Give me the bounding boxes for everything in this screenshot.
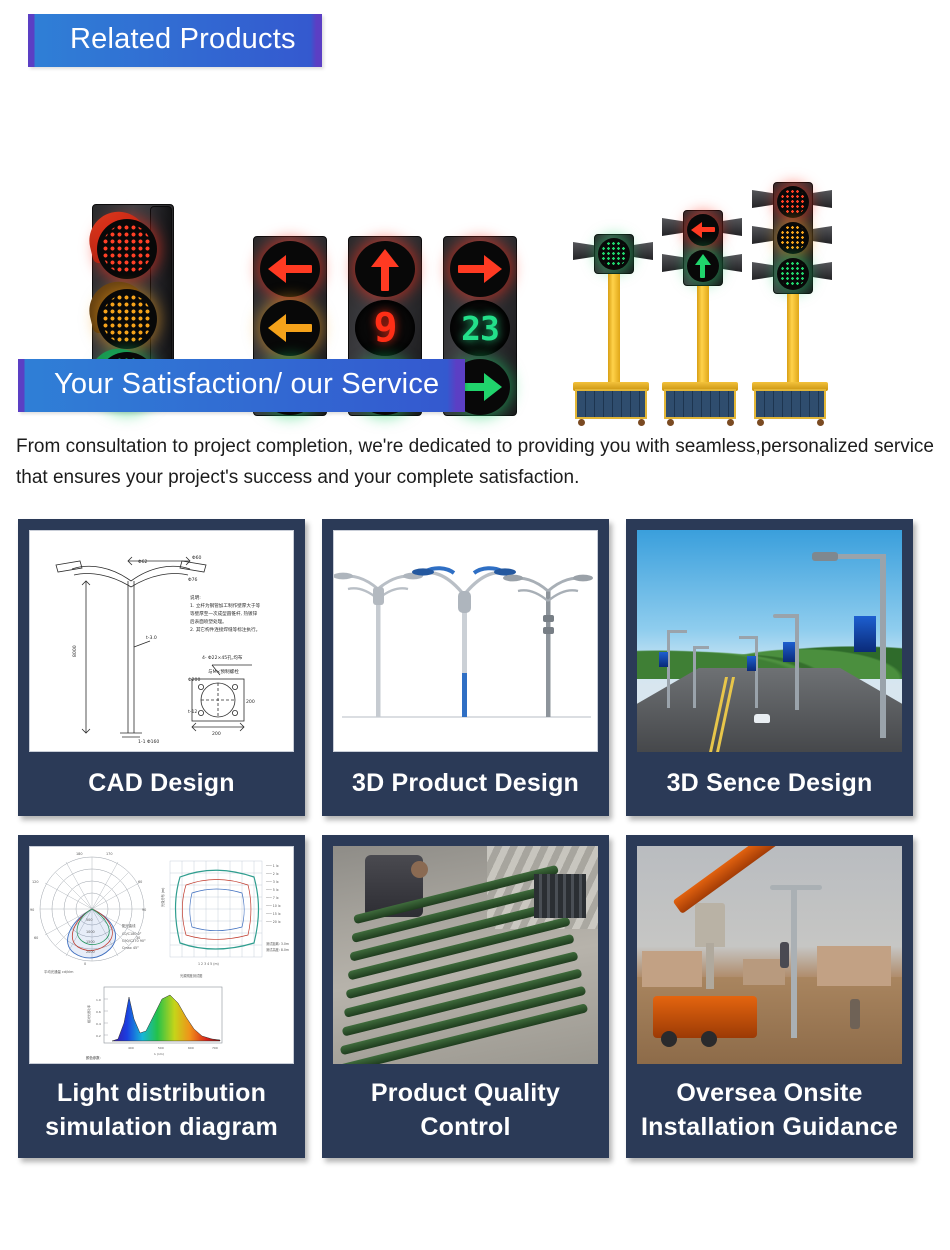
svg-text:等壁厚至一次成型圆锥杆, 热镀锌: 等壁厚至一次成型圆锥杆, 热镀锌 xyxy=(190,610,258,617)
svg-text:2. 其它构件连接焊缝等标注执行。: 2. 其它构件连接焊缝等标注执行。 xyxy=(190,626,260,633)
svg-text:700: 700 xyxy=(212,1046,218,1050)
service-card-oversea-installation[interactable]: Oversea Onsite Installation Guidance xyxy=(626,835,913,1158)
lens-amber xyxy=(97,289,157,349)
card-media-3d-poles xyxy=(333,530,598,752)
svg-text:Φ60: Φ60 xyxy=(192,555,202,561)
lens-green-countdown: 23 xyxy=(450,300,510,356)
solar-panel xyxy=(575,389,647,419)
svg-text:测试距离: 3.0m: 测试距离: 3.0m xyxy=(266,941,289,946)
solar-panel xyxy=(664,389,736,419)
lens-red xyxy=(97,219,157,279)
related-products-header: Related Products xyxy=(0,0,950,86)
svg-text:λ (nm): λ (nm) xyxy=(154,1052,164,1056)
lens-solar-amber xyxy=(777,222,809,254)
lens-solar-green xyxy=(598,238,630,270)
svg-text:Φ62: Φ62 xyxy=(138,559,148,565)
related-products-gallery: 9 23 xyxy=(0,86,950,351)
svg-text:平均光通量 cd/klm: 平均光通量 cd/klm xyxy=(44,969,74,974)
svg-text:1 2 3 4 5 (m): 1 2 3 4 5 (m) xyxy=(198,962,219,966)
svg-text:200: 200 xyxy=(246,699,255,705)
svg-text:0: 0 xyxy=(84,962,86,966)
svg-text:2000: 2000 xyxy=(86,950,95,954)
svg-text:C0/C180 0°: C0/C180 0° xyxy=(122,932,142,936)
svg-text:颜色参数:: 颜色参数: xyxy=(86,1055,101,1060)
svg-text:Φ200: Φ200 xyxy=(188,677,200,683)
svg-text:120: 120 xyxy=(32,880,38,884)
svg-text:配光曲线: 配光曲线 xyxy=(122,923,136,928)
countdown-value-red: 9 xyxy=(355,300,415,356)
card-title-oversea-installation: Oversea Onsite Installation Guidance xyxy=(637,1064,902,1158)
svg-text:0.4: 0.4 xyxy=(96,1022,101,1026)
related-products-title: Related Products xyxy=(28,14,322,67)
countdown-value-green: 23 xyxy=(450,300,510,356)
service-card-3d-product-design[interactable]: 3D Product Design xyxy=(322,519,609,816)
svg-text:4- Φ22×45孔,均布: 4- Φ22×45孔,均布 xyxy=(202,654,243,661)
svg-text:0.2: 0.2 xyxy=(96,1034,101,1038)
svg-text:600: 600 xyxy=(188,1046,194,1050)
svg-text:400: 400 xyxy=(128,1046,134,1050)
svg-text:─── 3 lx: ─── 3 lx xyxy=(265,880,279,884)
lens-solar-green xyxy=(777,258,809,290)
svg-text:1000: 1000 xyxy=(86,930,95,934)
svg-text:8000: 8000 xyxy=(72,645,78,657)
svg-text:Cmax 45°: Cmax 45° xyxy=(122,946,139,950)
svg-text:─── 10 lx: ─── 10 lx xyxy=(265,904,281,908)
svg-text:相对光谱功率: 相对光谱功率 xyxy=(86,1005,91,1023)
svg-text:60: 60 xyxy=(34,936,38,940)
lens-solar-green-up-arrow xyxy=(687,250,719,282)
service-paragraph: From consultation to project completion,… xyxy=(16,431,934,493)
service-card-cad-design[interactable]: 说明: 1. 立杆为钢管加工制作壁厚大于等 等壁厚至一次成型圆锥杆, 热镀锌 后… xyxy=(18,519,305,816)
card-media-photometric-charts: 180170 12060 9090 6030 0 5001000 1500200… xyxy=(29,846,294,1064)
card-title-3d-product-design: 3D Product Design xyxy=(333,752,598,816)
svg-text:C90/C270 90°: C90/C270 90° xyxy=(122,939,146,943)
solar-panel xyxy=(754,389,826,419)
card-title-product-quality-control: Product Quality Control xyxy=(333,1064,598,1158)
lens-red-countdown: 9 xyxy=(355,300,415,356)
svg-text:测试高度: 8.0m: 测试高度: 8.0m xyxy=(266,947,289,952)
svg-text:─── 20 lx: ─── 20 lx xyxy=(265,920,281,924)
svg-text:─── 15 lx: ─── 15 lx xyxy=(265,912,281,916)
service-title: Your Satisfaction/ our Service xyxy=(18,359,465,412)
svg-text:1500: 1500 xyxy=(86,940,95,944)
svg-text:与M×预制螺栓: 与M×预制螺栓 xyxy=(208,668,239,675)
svg-text:1-1 Φ160: 1-1 Φ160 xyxy=(138,739,159,745)
svg-text:200: 200 xyxy=(212,731,221,737)
svg-text:说明:: 说明: xyxy=(190,594,201,601)
svg-text:─── 7 lx: ─── 7 lx xyxy=(265,896,279,900)
service-card-product-quality-control[interactable]: Product Quality Control xyxy=(322,835,609,1158)
svg-text:后表面喷塑处理。: 后表面喷塑处理。 xyxy=(190,618,227,625)
pole-banner-screen xyxy=(854,616,876,652)
svg-text:90: 90 xyxy=(142,908,146,912)
card-title-light-distribution: Light distribution simulation diagram xyxy=(29,1064,294,1158)
page-root: Related Products xyxy=(0,0,950,1250)
svg-text:光强分布 (m): 光强分布 (m) xyxy=(160,888,165,907)
card-media-cad-drawing: 说明: 1. 立杆为钢管加工制作壁厚大于等 等壁厚至一次成型圆锥杆, 热镀锌 后… xyxy=(29,530,294,752)
svg-text:t-3.0: t-3.0 xyxy=(146,635,157,641)
svg-text:0.6: 0.6 xyxy=(96,1010,101,1014)
svg-text:60: 60 xyxy=(138,880,142,884)
lens-solar-red xyxy=(777,186,809,218)
svg-text:1. 立杆为钢管加工制作壁厚大于等: 1. 立杆为钢管加工制作壁厚大于等 xyxy=(190,602,261,609)
card-media-installation-site xyxy=(637,846,902,1064)
svg-text:─── 2 lx: ─── 2 lx xyxy=(265,872,279,876)
svg-text:─── 1 lx: ─── 1 lx xyxy=(265,864,279,868)
card-media-street-scene xyxy=(637,530,902,752)
card-title-3d-sence-design: 3D Sence Design xyxy=(637,752,902,816)
svg-text:500: 500 xyxy=(86,918,92,922)
service-card-grid: 说明: 1. 立杆为钢管加工制作壁厚大于等 等壁厚至一次成型圆锥杆, 热镀锌 后… xyxy=(18,519,950,1158)
svg-text:t-12: t-12 xyxy=(188,709,197,715)
svg-text:180: 180 xyxy=(76,852,82,856)
svg-text:1.0: 1.0 xyxy=(96,998,101,1002)
service-card-3d-sence-design[interactable]: 3D Sence Design xyxy=(626,519,913,816)
svg-text:─── 5 lx: ─── 5 lx xyxy=(265,888,279,892)
card-media-factory-qc xyxy=(333,846,598,1064)
svg-text:500: 500 xyxy=(158,1046,164,1050)
lens-red-up-arrow xyxy=(355,241,415,297)
lens-red-right-arrow xyxy=(450,241,510,297)
svg-text:光源照度测试图: 光源照度测试图 xyxy=(180,973,202,978)
lens-red-left-arrow xyxy=(260,241,320,297)
card-title-cad-design: CAD Design xyxy=(29,752,294,816)
lens-solar-red-left-arrow xyxy=(687,214,719,246)
service-card-light-distribution[interactable]: 180170 12060 9090 6030 0 5001000 1500200… xyxy=(18,835,305,1158)
svg-text:170: 170 xyxy=(106,852,112,856)
svg-text:Φ76: Φ76 xyxy=(188,577,198,583)
svg-text:90: 90 xyxy=(30,908,34,912)
lens-amber-left-arrow xyxy=(260,300,320,356)
